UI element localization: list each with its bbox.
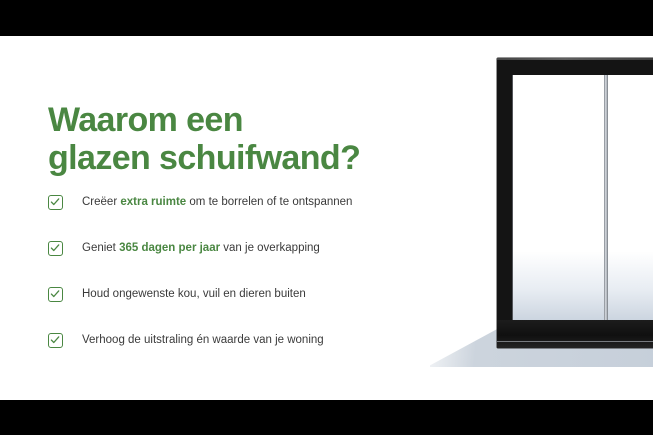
list-item-text-after: van je overkapping: [220, 242, 320, 254]
list-item-label: Verhoog de uitstraling én waarde van je …: [82, 333, 324, 348]
list-item-text-before: Geniet: [82, 242, 119, 254]
list-item-text-before: Creëer: [82, 196, 120, 208]
door-frame: [497, 58, 653, 348]
benefit-list: Creëer extra ruimte om te borrelen of te…: [48, 192, 468, 350]
frame-top-highlight: [497, 58, 653, 60]
checkbox-checked-icon: [48, 195, 63, 210]
list-item: Creëer extra ruimte om te borrelen of te…: [48, 192, 468, 212]
bottom-rail-highlight: [497, 341, 653, 342]
checkbox-checked-icon: [48, 241, 63, 256]
list-item-highlight: extra ruimte: [120, 196, 186, 208]
checkbox-checked-icon: [48, 333, 63, 348]
list-item-text-before: Houd ongewenste kou, vuil en dieren buit…: [82, 288, 306, 300]
list-item-label: Houd ongewenste kou, vuil en dieren buit…: [82, 287, 306, 302]
left-stile-highlight: [512, 75, 513, 320]
door-mullion: [604, 75, 608, 320]
letterbox-bar-bottom: [0, 400, 653, 435]
page-title: Waarom een glazen schuifwand?: [48, 101, 448, 177]
list-item-highlight: 365 dagen per jaar: [119, 242, 220, 254]
list-item: Verhoog de uitstraling én waarde van je …: [48, 330, 468, 350]
door-bottom-rail: [497, 320, 653, 348]
checkbox-checked-icon: [48, 287, 63, 302]
list-item-label: Geniet 365 dagen per jaar van je overkap…: [82, 241, 320, 256]
letterbox-bar-top: [0, 0, 653, 36]
glass-pane: [513, 75, 653, 320]
list-item-label: Creëer extra ruimte om te borrelen of te…: [82, 195, 352, 210]
slide-canvas: Waarom een glazen schuifwand? Creëer ext…: [0, 0, 653, 435]
list-item: Geniet 365 dagen per jaar van je overkap…: [48, 238, 468, 258]
list-item-text-after: om te borrelen of te ontspannen: [186, 196, 352, 208]
list-item: Houd ongewenste kou, vuil en dieren buit…: [48, 284, 468, 304]
list-item-text-before: Verhoog de uitstraling én waarde van je …: [82, 334, 324, 346]
